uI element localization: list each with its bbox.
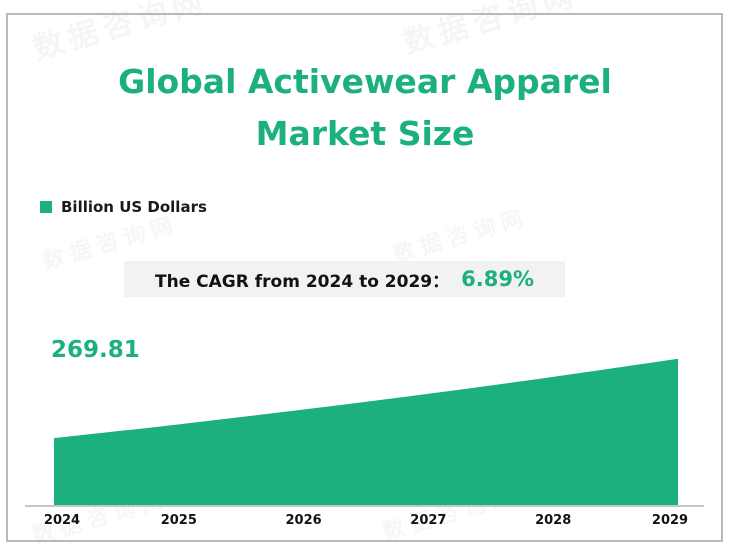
x-axis-tick-2027: 2027: [410, 513, 446, 528]
watermark-text: 数据咨询网: [388, 199, 531, 268]
x-axis-tick-2024: 2024: [44, 513, 80, 528]
x-axis-tick-2026: 2026: [286, 513, 322, 528]
data-label-2024: 269.81: [51, 337, 140, 363]
legend-label: Billion US Dollars: [61, 198, 207, 216]
chart-legend: Billion US Dollars: [40, 198, 207, 216]
x-axis-tick-2028: 2028: [535, 513, 571, 528]
cagr-banner: The CAGR from 2024 to 2029： 6.89%: [124, 261, 565, 297]
title-line-1: Global Activewear Apparel: [40, 56, 690, 108]
x-axis-line: [25, 505, 704, 507]
cagr-label: The CAGR from 2024 to 2029：: [155, 267, 449, 292]
x-axis-tick-2029: 2029: [652, 513, 688, 528]
legend-swatch-icon: [40, 201, 52, 213]
watermark-text: 数据咨询网: [378, 477, 521, 546]
title-line-2: Market Size: [40, 108, 690, 160]
area-series-fill: [54, 359, 678, 505]
x-axis-tick-2025: 2025: [161, 513, 197, 528]
chart-canvas: 数据咨询网 数据咨询网 数据咨询网 数据咨询网 数据咨询网 数据咨询网 Glob…: [0, 0, 729, 553]
watermark-text: 数据咨询网: [397, 0, 582, 62]
x-axis-tick-labels: 202420252026202720282029: [25, 513, 704, 535]
page-title: Global Activewear Apparel Market Size: [40, 56, 690, 160]
cagr-value: 6.89%: [461, 267, 534, 291]
